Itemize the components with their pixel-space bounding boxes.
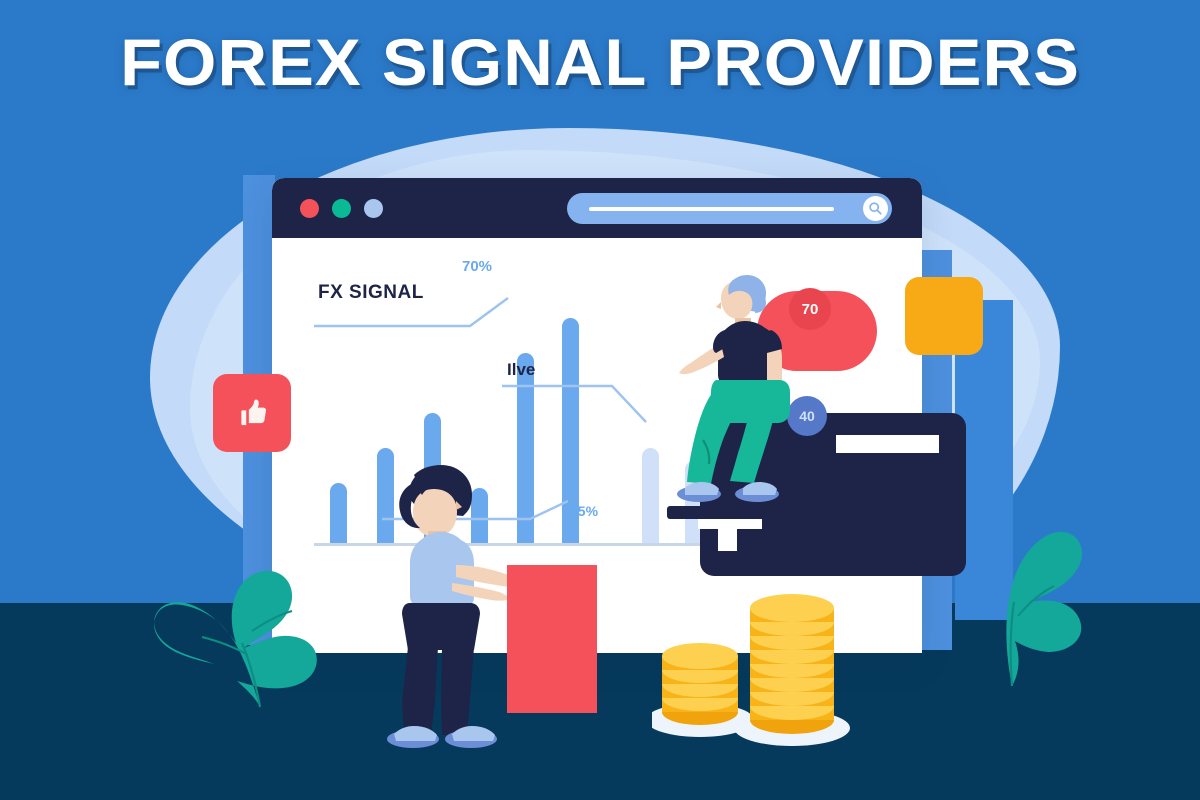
search-input-text [589,207,834,211]
window-controls [300,199,383,218]
live-leader-line [500,378,660,428]
red-bar-block [507,565,597,713]
browser-titlebar [272,178,922,238]
fx-signal-label: FX SIGNAL [318,282,424,304]
maximize-dot[interactable] [364,199,383,218]
leaf-icon-left [148,455,368,715]
yellow-square-decor [905,277,983,355]
percent-70-label: 70% [462,258,492,275]
coin-stack-icon [652,580,872,750]
minimize-dot[interactable] [332,199,351,218]
illustration-canvas: FOREX SIGNAL PROVIDERS [0,0,1200,800]
thumbs-up-icon [231,392,273,434]
live-label: Ilve [507,360,535,380]
search-icon[interactable] [863,196,888,221]
thumbs-up-card[interactable] [213,374,291,452]
character-seated-person [655,272,815,532]
percent-25-label: 25% [570,503,598,519]
leaf-icon-right [920,440,1110,690]
search-input[interactable] [567,193,892,224]
page-title: FOREX SIGNAL PROVIDERS [0,24,1200,100]
close-dot[interactable] [300,199,319,218]
